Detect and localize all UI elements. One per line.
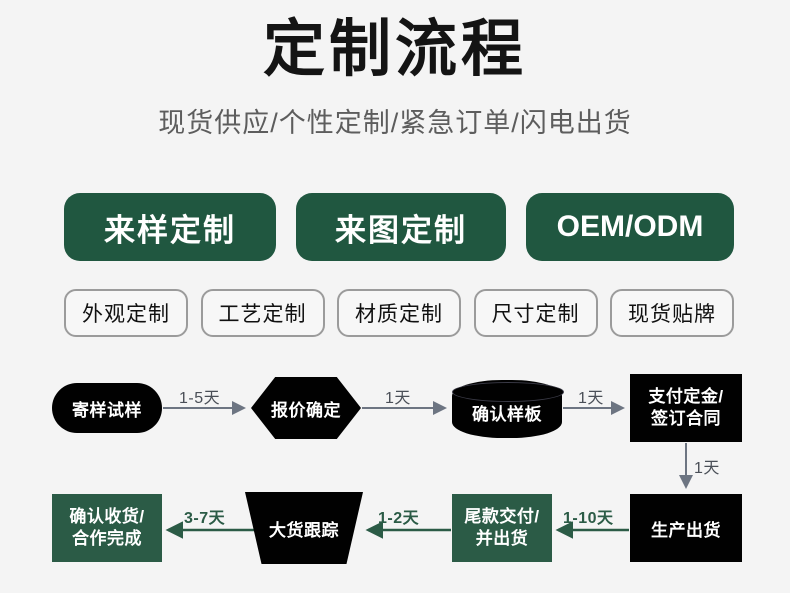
pill-oem-odm[interactable]: OEM/ODM: [526, 193, 734, 261]
flow-node-quote-confirm-label: 报价确定: [271, 396, 341, 421]
flow-node-send-sample[interactable]: 寄样试样: [52, 383, 162, 433]
pill-drawing-custom[interactable]: 来图定制: [296, 193, 506, 261]
tag-material-custom[interactable]: 材质定制: [337, 289, 461, 337]
edge-label-send-to-quote: 1-5天: [179, 384, 220, 408]
tag-process-custom[interactable]: 工艺定制: [201, 289, 325, 337]
edge-label-deposit-to-production: 1天: [694, 454, 720, 478]
edge-label-payment-to-tracking: 1-2天: [378, 504, 419, 528]
flow-node-production-ship[interactable]: 生产出货: [630, 494, 742, 562]
flow-node-bulk-tracking[interactable]: 大货跟踪: [245, 492, 363, 564]
flow-node-pay-deposit-line2: 签订合同: [651, 408, 721, 430]
flow-node-bulk-tracking-label: 大货跟踪: [269, 516, 339, 541]
flow-node-confirm-receipt[interactable]: 确认收货/ 合作完成: [52, 494, 162, 562]
edge-label-quote-to-sample: 1天: [385, 384, 411, 408]
flow-node-send-sample-label: 寄样试样: [72, 396, 142, 421]
pill-sample-custom[interactable]: 来样定制: [64, 193, 276, 261]
edge-label-production-to-payment: 1-10天: [563, 504, 614, 528]
page-title: 定制流程: [0, 14, 790, 86]
flow-node-final-payment[interactable]: 尾款交付/ 并出货: [452, 494, 552, 562]
tag-stock-oem[interactable]: 现货贴牌: [610, 289, 734, 337]
flow-node-production-ship-label: 生产出货: [651, 516, 721, 541]
flow-node-confirm-sample-label: 确认样板: [472, 400, 542, 425]
flow-node-final-payment-line1: 尾款交付/: [464, 506, 539, 528]
edge-label-tracking-to-receipt: 3-7天: [184, 504, 225, 528]
tag-row: 外观定制 工艺定制 材质定制 尺寸定制 现货贴牌: [64, 289, 734, 337]
page-subtitle: 现货供应/个性定制/紧急订单/闪电出货: [0, 104, 790, 142]
flow-node-confirm-receipt-line1: 确认收货/: [69, 506, 144, 528]
flow-node-confirm-sample[interactable]: 确认样板: [452, 380, 562, 438]
pill-row: 来样定制 来图定制 OEM/ODM: [64, 193, 734, 261]
tag-size-custom[interactable]: 尺寸定制: [474, 289, 598, 337]
process-flowchart: 寄样试样 报价确定 确认样板 支付定金/ 签订合同 生产出货 尾款交付/ 并出货…: [0, 362, 790, 577]
flow-node-pay-deposit[interactable]: 支付定金/ 签订合同: [630, 374, 742, 442]
page-root: 定制流程 现货供应/个性定制/紧急订单/闪电出货 来样定制 来图定制 OEM/O…: [0, 0, 790, 593]
flow-node-confirm-receipt-line2: 合作完成: [72, 528, 142, 550]
flow-node-final-payment-line2: 并出货: [476, 528, 529, 550]
edge-label-sample-to-deposit: 1天: [578, 384, 604, 408]
tag-appearance-custom[interactable]: 外观定制: [64, 289, 188, 337]
flow-node-pay-deposit-line1: 支付定金/: [648, 386, 723, 408]
